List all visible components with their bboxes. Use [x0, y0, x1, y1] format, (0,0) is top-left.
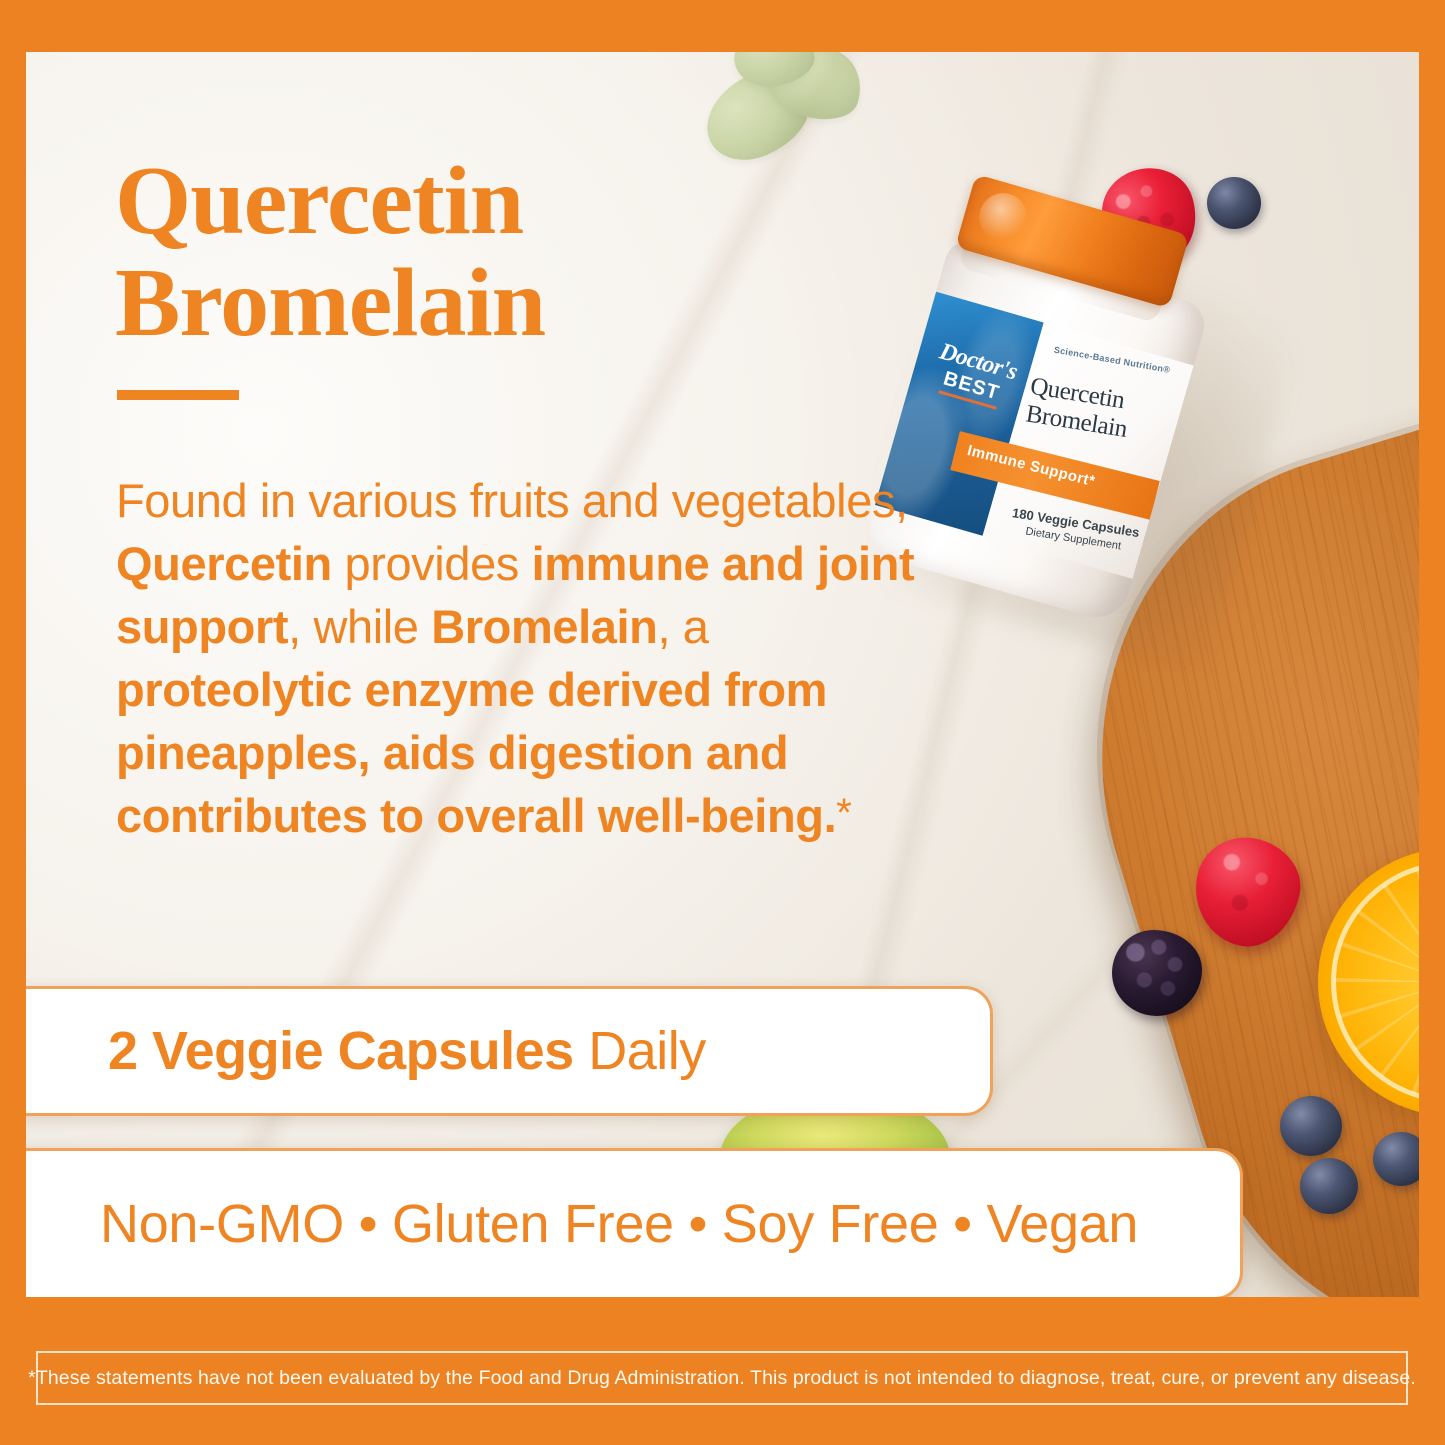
dosage-text: 2 Veggie Capsules Daily — [0, 1020, 706, 1082]
frame-left-band — [0, 0, 26, 1445]
blueberry-a — [1280, 1096, 1342, 1156]
product-description: Found in various fruits and vegetables, … — [116, 470, 916, 848]
page-title-line2: Bromelain — [115, 254, 895, 352]
claims-card: Non-GMO • Gluten Free • Soy Free • Vegan — [0, 1148, 1243, 1300]
dosage-card: 2 Veggie Capsules Daily — [0, 986, 993, 1116]
blueberry-b — [1300, 1158, 1358, 1214]
disclaimer-box: *These statements have not been evaluate… — [36, 1351, 1408, 1405]
dosage-frequency: Daily — [574, 1021, 706, 1081]
frame-top-band — [0, 0, 1445, 52]
claims-text: Non-GMO • Gluten Free • Soy Free • Vegan — [0, 1193, 1138, 1255]
page-title: Quercetin Bromelain — [115, 152, 895, 352]
page-title-line1: Quercetin — [115, 147, 523, 255]
frame-right-band — [1419, 0, 1445, 1445]
product-infographic: Doctor's BEST Science-Based Nutrition® Q… — [0, 0, 1445, 1445]
dosage-amount: 2 Veggie Capsules — [108, 1021, 574, 1081]
fda-disclaimer: *These statements have not been evaluate… — [28, 1367, 1416, 1390]
title-underline-rule — [117, 390, 239, 400]
blueberry-top — [1207, 177, 1261, 229]
description-rich-text: Found in various fruits and vegetables, … — [116, 474, 914, 842]
